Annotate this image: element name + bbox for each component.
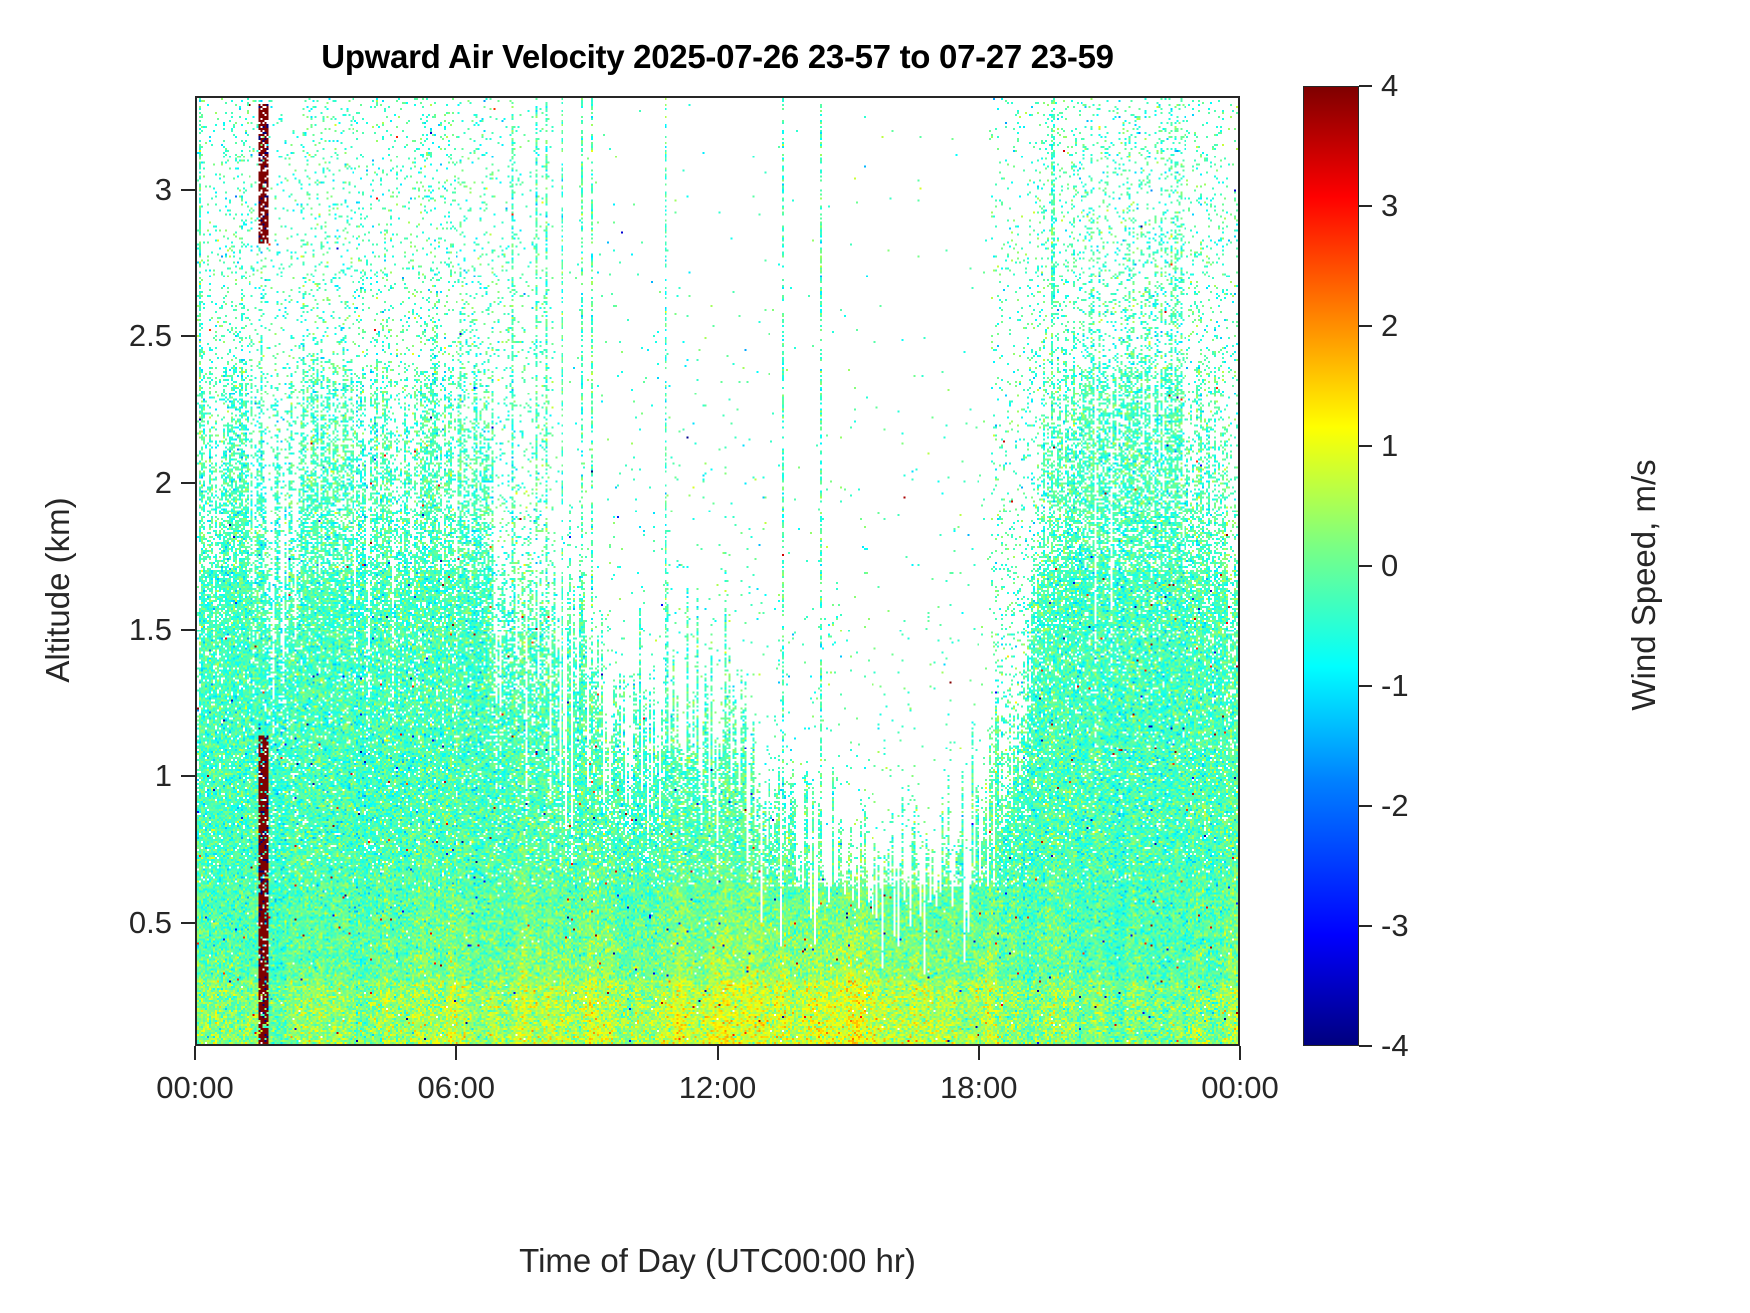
- colorbar-label: Wind Speed, m/s: [1625, 375, 1663, 795]
- x-tick-mark: [717, 1046, 719, 1060]
- colorbar-tick-label: -4: [1381, 1028, 1409, 1064]
- x-tick-mark: [978, 1046, 980, 1060]
- colorbar-tick-mark: [1359, 565, 1372, 567]
- colorbar-tick-label: 2: [1381, 308, 1398, 344]
- colorbar-tick-mark: [1359, 205, 1372, 207]
- colorbar-tick-label: -2: [1381, 788, 1409, 824]
- heatmap-image: [197, 98, 1238, 1044]
- colorbar-tick-mark: [1359, 925, 1372, 927]
- colorbar-tick-mark: [1359, 1045, 1372, 1047]
- y-tick-label: 0.5: [129, 905, 172, 941]
- y-tick-label: 2.5: [129, 318, 172, 354]
- y-tick-label: 1.5: [129, 612, 172, 648]
- y-tick-mark: [181, 775, 195, 777]
- y-axis-label: Altitude (km): [39, 380, 77, 800]
- y-tick-mark: [181, 482, 195, 484]
- y-tick-mark: [181, 335, 195, 337]
- colorbar-tick-mark: [1359, 685, 1372, 687]
- x-tick-label: 12:00: [679, 1070, 757, 1106]
- colorbar-tick-mark: [1359, 805, 1372, 807]
- y-tick-label: 1: [155, 758, 172, 794]
- colorbar-gradient[interactable]: [1303, 86, 1359, 1046]
- x-tick-mark: [194, 1046, 196, 1060]
- colorbar-tick-label: 4: [1381, 68, 1398, 104]
- colorbar-tick-label: -1: [1381, 668, 1409, 704]
- colorbar-tick-label: -3: [1381, 908, 1409, 944]
- figure-canvas: Upward Air Velocity 2025-07-26 23-57 to …: [0, 0, 1750, 1313]
- y-tick-mark: [181, 629, 195, 631]
- y-tick-label: 3: [155, 172, 172, 208]
- colorbar-tick-label: 1: [1381, 428, 1398, 464]
- y-tick-mark: [181, 189, 195, 191]
- x-tick-label: 00:00: [156, 1070, 234, 1106]
- colorbar-tick-mark: [1359, 445, 1372, 447]
- colorbar-tick-mark: [1359, 325, 1372, 327]
- colorbar-tick-label: 0: [1381, 548, 1398, 584]
- page-title: Upward Air Velocity 2025-07-26 23-57 to …: [195, 38, 1240, 76]
- heatmap-plot-area[interactable]: [195, 96, 1240, 1046]
- y-tick-label: 2: [155, 465, 172, 501]
- x-tick-mark: [455, 1046, 457, 1060]
- x-axis-label: Time of Day (UTC00:00 hr): [195, 1242, 1240, 1280]
- colorbar-tick-label: 3: [1381, 188, 1398, 224]
- x-tick-mark: [1239, 1046, 1241, 1060]
- x-tick-label: 00:00: [1201, 1070, 1279, 1106]
- x-tick-label: 06:00: [417, 1070, 495, 1106]
- x-tick-label: 18:00: [940, 1070, 1018, 1106]
- colorbar-tick-mark: [1359, 85, 1372, 87]
- y-tick-mark: [181, 922, 195, 924]
